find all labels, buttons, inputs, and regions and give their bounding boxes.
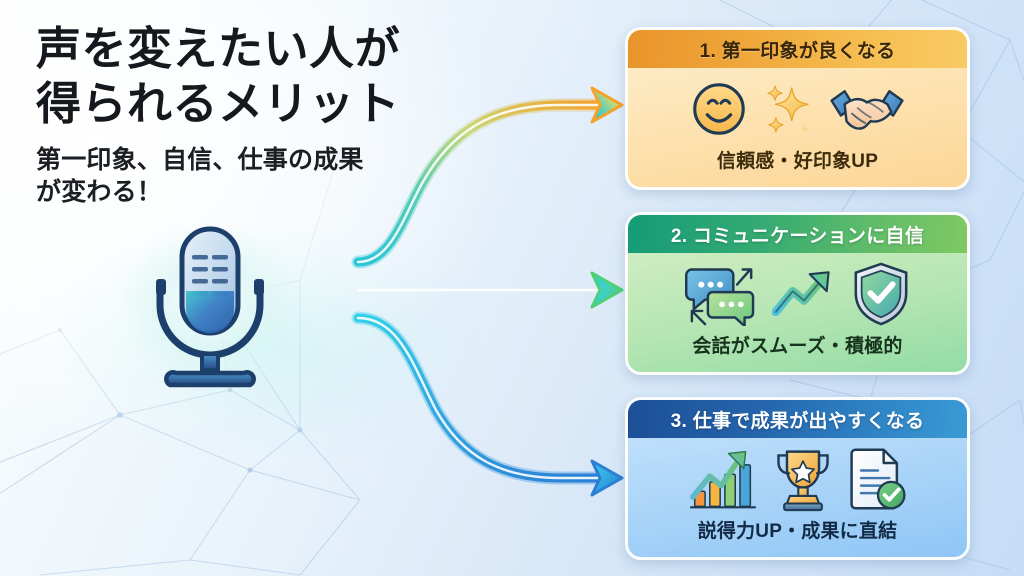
smiling-face-icon xyxy=(688,78,750,140)
headline-line-1: 声を変えたい人が xyxy=(36,22,596,77)
card-1-caption: 信頼感・好印象UP xyxy=(628,146,967,173)
card-1-icons xyxy=(628,68,967,146)
card-1-title: 1. 第一印象が良くなる xyxy=(628,30,967,68)
headline-line-2: 得られるメリット xyxy=(36,77,596,132)
subhead-line-1: 第一印象、自信、仕事の成果 xyxy=(36,144,596,177)
card-2-title: 2. コミュニケーションに自信 xyxy=(628,215,967,253)
subhead-line-2: が変わる！ xyxy=(36,176,596,209)
sparkles-icon xyxy=(762,80,814,138)
slide-canvas: 声を変えたい人が 得られるメリット 第一印象、自信、仕事の成果 が変わる！ xyxy=(0,0,1024,576)
benefit-card-1[interactable]: 1. 第一印象が良くなる xyxy=(625,27,970,190)
trending-up-arrow-icon xyxy=(772,266,838,322)
benefit-card-2[interactable]: 2. コミュニケーションに自信 xyxy=(625,212,970,375)
trophy-icon xyxy=(771,446,835,512)
card-2-caption: 会話がスムーズ・積極的 xyxy=(628,331,967,358)
card-2-icons xyxy=(628,253,967,331)
handshake-icon xyxy=(826,80,908,138)
speech-bubbles-icon xyxy=(684,262,760,326)
benefit-card-3[interactable]: 3. 仕事で成果が出やすくなる xyxy=(625,397,970,560)
document-check-icon xyxy=(847,446,909,512)
headline-block: 声を変えたい人が 得られるメリット 第一印象、自信、仕事の成果 が変わる！ xyxy=(36,22,596,209)
shield-check-icon xyxy=(850,261,912,327)
card-3-title: 3. 仕事で成果が出やすくなる xyxy=(628,400,967,438)
card-3-caption: 説得力UP・成果に直結 xyxy=(628,516,967,543)
voice-visual xyxy=(20,215,400,390)
card-3-icons xyxy=(628,438,967,516)
bar-chart-growth-icon xyxy=(687,446,759,512)
